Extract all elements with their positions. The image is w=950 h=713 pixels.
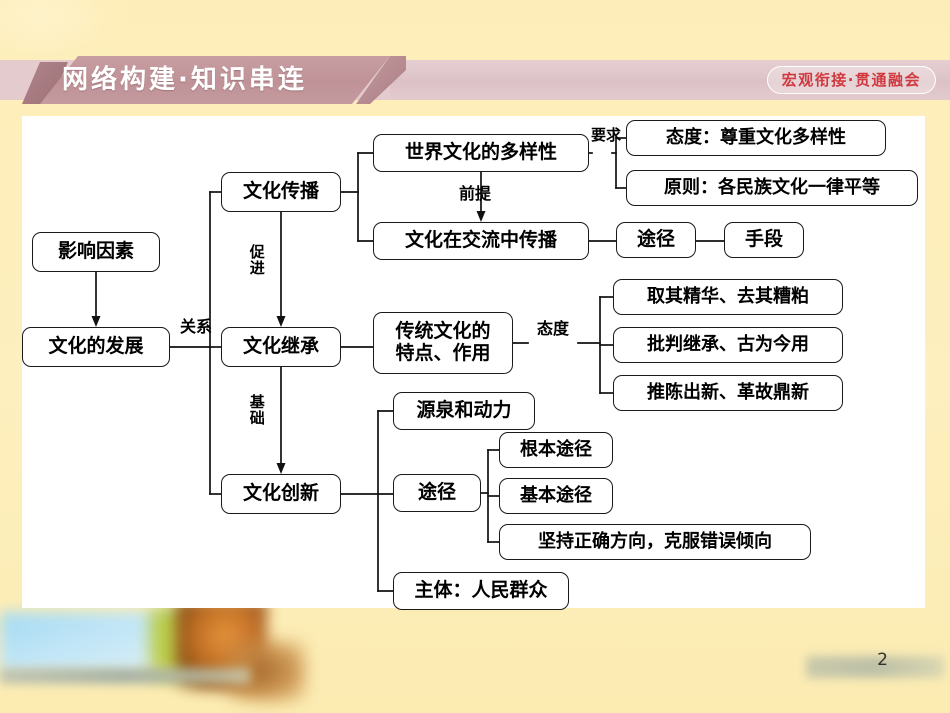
background-glow xyxy=(0,0,120,60)
decor-page-wash xyxy=(806,656,944,678)
diagram-node-inherit[interactable]: 文化继承 xyxy=(221,327,341,367)
diagram-node-direction[interactable]: 坚持正确方向，克服错误倾向 xyxy=(499,524,811,560)
decor-orange-blur xyxy=(175,600,267,690)
diagram-node-source[interactable]: 源泉和动力 xyxy=(393,392,535,430)
edge-label-basis: 基础 xyxy=(248,394,264,426)
edge-label-promote: 促进 xyxy=(248,244,264,276)
slide-background: 网络构建·知识串连 宏观衔接·贯通融会 xyxy=(0,0,950,713)
diagram-node-renew[interactable]: 推陈出新、革故鼎新 xyxy=(613,375,843,411)
diagram-canvas: 影响因素文化的发展文化传播文化继承文化创新世界文化的多样性文化在交流中传播态度：… xyxy=(22,116,925,608)
diagram-node-communicate[interactable]: 文化在交流中传播 xyxy=(373,222,589,260)
diagram-node-critical[interactable]: 批判继承、古为今用 xyxy=(613,327,843,363)
diagram-node-basicway[interactable]: 基本途径 xyxy=(499,478,613,514)
edge-label-premise: 前提 xyxy=(459,186,491,203)
decor-grey-band xyxy=(0,668,250,684)
decor-blue-blur xyxy=(0,612,205,672)
diagram-node-spread[interactable]: 文化传播 xyxy=(221,172,341,212)
diagram-node-principle[interactable]: 原则：各民族文化一律平等 xyxy=(626,170,918,206)
decor-green-blur xyxy=(150,608,250,680)
diagram-node-means[interactable]: 手段 xyxy=(724,222,804,258)
diagram-node-way1[interactable]: 途径 xyxy=(616,222,696,258)
diagram-node-diversity[interactable]: 世界文化的多样性 xyxy=(373,134,589,172)
edge-label-require: 要求 xyxy=(591,128,621,144)
page-number: 2 xyxy=(877,650,888,670)
decor-tan-blur xyxy=(226,640,306,702)
edge-label-relation: 关系 xyxy=(180,319,212,336)
diagram-node-influence[interactable]: 影响因素 xyxy=(32,232,160,272)
diagram-node-way2[interactable]: 途径 xyxy=(393,474,481,512)
status-badge: 宏观衔接·贯通融会 xyxy=(767,66,936,94)
page-title: 网络构建·知识串连 xyxy=(62,56,307,104)
edge-label-attitude2: 态度 xyxy=(537,321,569,338)
diagram-node-subject[interactable]: 主体：人民群众 xyxy=(393,572,569,610)
diagram-node-tradition[interactable]: 传统文化的 特点、作用 xyxy=(373,312,513,374)
diagram-node-attitude[interactable]: 态度：尊重文化多样性 xyxy=(626,120,886,156)
diagram-node-dev[interactable]: 文化的发展 xyxy=(22,327,170,367)
header-ribbon: 网络构建·知识串连 宏观衔接·贯通融会 xyxy=(0,56,950,104)
diagram-node-essence[interactable]: 取其精华、去其糟粕 xyxy=(613,279,843,315)
diagram-node-innovate[interactable]: 文化创新 xyxy=(221,474,341,514)
diagram-node-rootway[interactable]: 根本途径 xyxy=(499,432,613,468)
